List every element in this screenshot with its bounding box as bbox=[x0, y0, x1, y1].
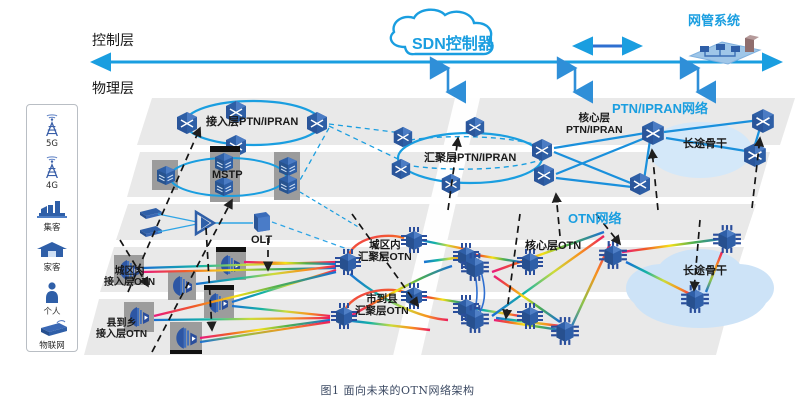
house-icon bbox=[36, 239, 68, 261]
otn-core-label: 核心层OTN bbox=[525, 240, 581, 252]
otn-backbone-label: 长途骨干 bbox=[683, 265, 727, 277]
factory-building-icon bbox=[36, 197, 68, 221]
legend-item-iot: 物联网 bbox=[27, 319, 77, 351]
legend-item-home: 家客 bbox=[27, 239, 77, 273]
otn-access-urban-label: 城区内 接入层OTN bbox=[104, 266, 155, 288]
legend-label: 个人 bbox=[27, 305, 77, 317]
mstp-ring-label: MSTP bbox=[212, 169, 243, 181]
sdn-controller-label: SDN控制器 bbox=[412, 36, 494, 54]
nms-server-icon bbox=[690, 35, 760, 64]
legend-item-5g: 5G bbox=[27, 111, 77, 149]
ptn-access-ring-label: 接入层PTN/IPRAN bbox=[206, 116, 298, 128]
legend-label: 集客 bbox=[27, 221, 77, 233]
ptn-aggregation-label: 汇聚层PTN/IPRAN bbox=[424, 152, 516, 164]
ptn-backbone-label: 长途骨干 bbox=[683, 138, 727, 150]
olt-label: OLT bbox=[251, 234, 272, 246]
physical-layer-label: 物理层 bbox=[92, 78, 134, 98]
ptn-network-title: PTN/IPRAN网络 bbox=[612, 102, 708, 117]
person-icon bbox=[39, 281, 65, 305]
figure-canvas: 控制层 物理层 SDN控制器 网管系统 接入层PTN/IPRAN MSTP 汇聚… bbox=[0, 0, 795, 419]
olt-device-icon bbox=[254, 212, 270, 232]
otn-access-county-label: 县到乡 接入层OTN bbox=[96, 318, 147, 340]
legend-item-4g: 4G bbox=[27, 153, 77, 191]
legend-item-individual: 个人 bbox=[27, 281, 77, 317]
network-architecture-diagram bbox=[0, 0, 795, 419]
legend-label: 物联网 bbox=[27, 339, 77, 351]
legend-label: 4G bbox=[27, 181, 77, 191]
otn-network-title: OTN网络 bbox=[568, 212, 621, 227]
figure-caption: 图1 面向未来的OTN网络架构 bbox=[0, 382, 795, 398]
legend-label: 5G bbox=[27, 139, 77, 149]
legend-label: 家客 bbox=[27, 261, 77, 273]
iot-gateway-icon bbox=[35, 319, 69, 339]
antenna-tower-icon bbox=[37, 153, 67, 181]
otn-agg-urban-label: 城区内 汇聚层OTN bbox=[358, 240, 412, 264]
access-type-legend: 5G 4G bbox=[26, 104, 78, 352]
control-layer-label: 控制层 bbox=[92, 30, 134, 50]
legend-item-enterprise: 集客 bbox=[27, 197, 77, 233]
otn-agg-city-county-label: 市到县 汇聚层OTN bbox=[355, 294, 409, 318]
nms-label: 网管系统 bbox=[688, 14, 740, 29]
antenna-tower-icon bbox=[37, 111, 67, 139]
